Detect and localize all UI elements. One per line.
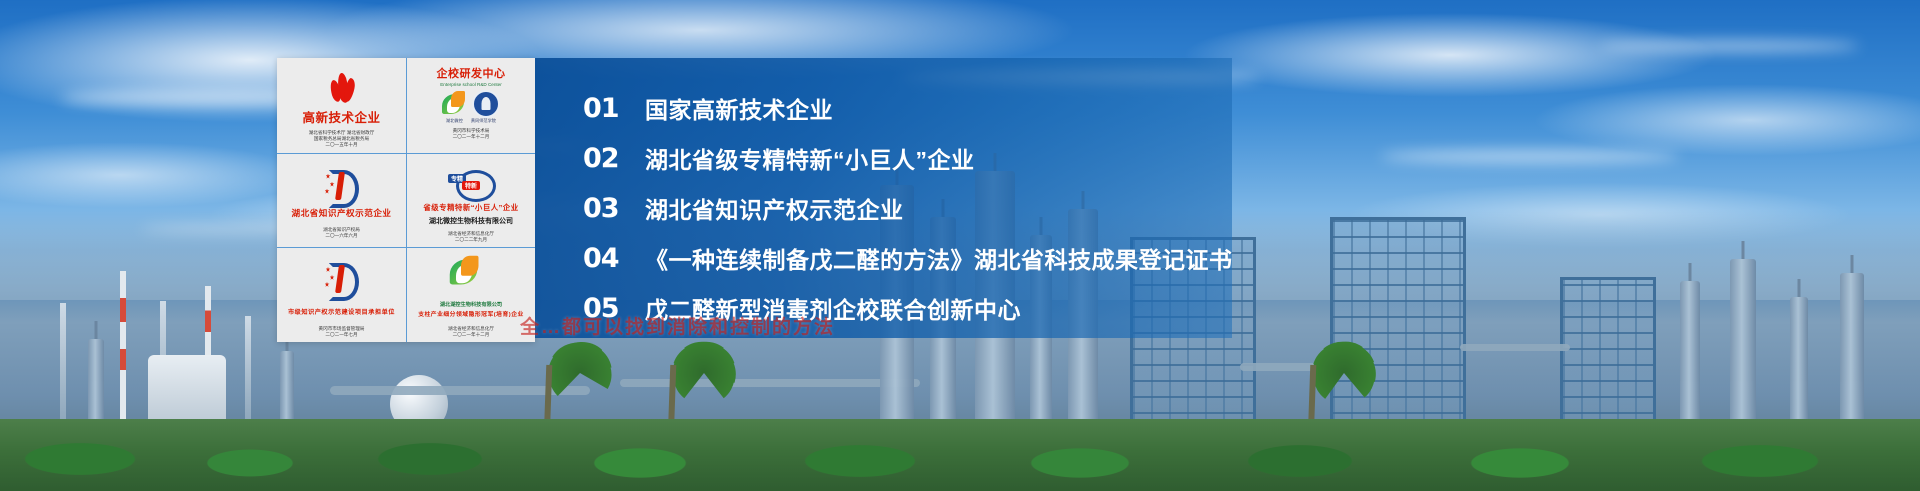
certificate-company: 湖北微控生物科技有限公司 [429,216,513,226]
certificate-card[interactable]: 湖北省知识产权示范企业 湖北省知识产权局 二〇一六年六月 [277,153,406,248]
list-item-label: 《一种连续制备戊二醛的方法》湖北省科技成果登记证书 [645,241,1233,275]
certificate-subtitle: 湖北省经济和信息化厅 二〇二二年九月 [448,231,494,243]
watermark-slogan: 全…都可以找到消除和控制的方法 [520,312,1140,339]
certificate-title: 湖北省知识产权示范企业 [291,209,391,219]
list-item-label: 湖北省知识产权示范企业 [645,191,904,225]
certificate-card[interactable]: 市级知识产权示范建设项目承担单位 黄冈市市场监督管理局 二〇二一年七月 [277,247,406,342]
list-item[interactable]: 04 《一种连续制备戊二醛的方法》湖北省科技成果登记证书 [583,234,1232,282]
list-item[interactable]: 03 湖北省知识产权示范企业 [583,184,1232,232]
certificate-gallery: 高新技术企业 湖北省科学技术厅 湖北省财政厅 国家税务总局湖北省税务局 二〇一五… [277,58,535,342]
ip-mark-icon [325,164,359,206]
list-item-label: 湖北省级专精特新“小巨人”企业 [645,141,975,175]
certificate-card[interactable]: 高新技术企业 湖北省科学技术厅 湖北省财政厅 国家税务总局湖北省税务局 二〇一五… [277,58,406,153]
certificate-subtitle: 湖北省科学技术厅 湖北省财政厅 国家税务总局湖北省税务局 二〇一五年十月 [309,130,375,149]
certificate-title: 支柱产业细分领域隐形冠军(培育)企业 [418,312,524,319]
list-item-label: 国家高新技术企业 [645,91,833,125]
certificate-card[interactable]: 企校研发中心 Enterprise school R&D Center 湖北微控… [406,58,535,153]
specialized-new-icon: 专精 特新 [448,164,494,202]
certificate-card[interactable]: 湖北湖控生物科技有限公司 支柱产业细分领域隐形冠军(培育)企业 湖北省经济和信息… [406,247,535,342]
list-item-number: 04 [583,243,645,274]
list-item-number: 02 [583,143,645,174]
flame-icon [329,68,355,108]
list-item-number: 01 [583,93,645,124]
certificate-subtitle: 黄冈市科学技术局 二〇二一年十二月 [453,128,490,140]
certificate-title: 市级知识产权示范建设项目承担单位 [288,309,395,316]
list-item[interactable]: 02 湖北省级专精特新“小巨人”企业 [583,134,1232,182]
certificate-subtitle: 黄冈市市场监督管理局 二〇二一年七月 [319,326,365,338]
ip-mark-icon [325,258,359,297]
certificate-title: 企校研发中心 [437,68,506,81]
list-item-number: 03 [583,193,645,224]
honors-panel: 01 国家高新技术企业 02 湖北省级专精特新“小巨人”企业 03 湖北省知识产… [535,58,1232,338]
green-leaf-icon [454,258,488,295]
enterprise-school-rd-icon [442,90,500,118]
list-item[interactable]: 01 国家高新技术企业 [583,84,1232,132]
certificate-card[interactable]: 专精 特新 省级专精特新“小巨人”企业 湖北微控生物科技有限公司 湖北省经济和信… [406,153,535,248]
certificate-title: 高新技术企业 [302,111,380,125]
certificate-company: 湖北湖控生物科技有限公司 [440,301,502,308]
promo-banner: 高新技术企业 湖北省科学技术厅 湖北省财政厅 国家税务总局湖北省税务局 二〇一五… [0,0,1920,491]
certificate-subtitle: 湖北省知识产权局 二〇一六年六月 [323,227,360,239]
honors-list: 01 国家高新技术企业 02 湖北省级专精特新“小巨人”企业 03 湖北省知识产… [535,58,1232,338]
certificate-title: 省级专精特新“小巨人”企业 [423,204,518,213]
certificate-title-en: Enterprise school R&D Center [440,82,502,87]
certificate-subtitle: 湖北省经济和信息化厅 二〇二一年十二月 [448,326,494,338]
foreground-greenery [0,419,1920,491]
